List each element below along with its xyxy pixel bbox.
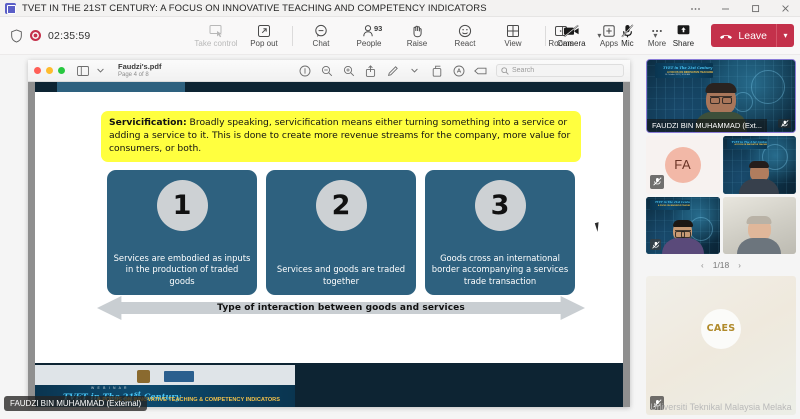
- rotate-icon[interactable]: [430, 64, 443, 77]
- person-silhouette: [739, 162, 779, 194]
- speaker-slide-banner: TVET in The 21st Century A FOCUS ON INNO…: [655, 63, 713, 78]
- people-count-badge: 93: [374, 24, 382, 33]
- markup-icon[interactable]: [386, 64, 399, 77]
- person-hair: [749, 161, 769, 168]
- share-label: Share: [673, 39, 694, 48]
- highlight-lead: Servicification:: [109, 117, 187, 128]
- raise-hand-button[interactable]: Raise: [393, 17, 441, 55]
- mic-label: Mic: [621, 39, 633, 48]
- window-minimize-icon[interactable]: [46, 67, 53, 74]
- shield-icon[interactable]: [10, 29, 23, 43]
- participant-tile-video-3[interactable]: [723, 197, 797, 255]
- window-close-icon[interactable]: [34, 67, 41, 74]
- mic-options-chevron-down-icon[interactable]: ▾: [648, 17, 662, 55]
- sidebar-toggle-icon[interactable]: [76, 64, 89, 77]
- camera-options-chevron-down-icon[interactable]: ▾: [592, 17, 606, 55]
- pdf-page: Servicification: Broadly speaking, servi…: [35, 82, 623, 407]
- share-icon[interactable]: [364, 64, 377, 77]
- person-torso: [662, 238, 704, 254]
- slide-footer-logos: [35, 365, 295, 387]
- participant-slide-banner: TVET in The 21st Century A FOCUS ON INNO…: [727, 139, 767, 149]
- recording-dot-icon: [30, 30, 41, 41]
- meeting-timer: 02:35:59: [48, 30, 90, 42]
- leave-options-chevron-down-icon[interactable]: ▾: [776, 24, 794, 47]
- camera-off-icon: [563, 23, 580, 38]
- hang-up-icon: [719, 31, 733, 41]
- person-torso: [739, 179, 779, 194]
- mic-button[interactable]: Mic: [606, 17, 648, 55]
- card-number-2: 2: [316, 180, 367, 231]
- person-hair: [673, 220, 693, 227]
- pdf-file-name: Faudzi's.pdf: [118, 63, 161, 71]
- person-hair: [747, 216, 772, 224]
- window-title: TVET IN THE 21ST CENTURY: A FOCUS ON INN…: [22, 3, 487, 14]
- camera-label: Camera: [557, 39, 585, 48]
- person-silhouette: [737, 217, 781, 254]
- window-close-button[interactable]: [770, 0, 800, 17]
- slide-footer-gap: [35, 355, 623, 363]
- person-glasses: [710, 96, 732, 101]
- take-control-icon: [209, 23, 224, 38]
- markup-chevron-down-icon[interactable]: [408, 64, 421, 77]
- window-title-bar: TVET IN THE 21ST CENTURY: A FOCUS ON INN…: [0, 0, 800, 17]
- react-label: React: [455, 39, 476, 48]
- leave-label: Leave: [738, 30, 767, 42]
- info-icon[interactable]: [298, 64, 311, 77]
- view-button[interactable]: View: [489, 17, 537, 55]
- participant-tile-avatar[interactable]: FA: [646, 136, 720, 194]
- participant-tile-video-1[interactable]: TVET in The 21st Century A FOCUS ON INNO…: [723, 136, 797, 194]
- pop-out-icon: [257, 23, 271, 38]
- speaker-mic-off-icon: [778, 119, 791, 128]
- chat-icon: [314, 23, 328, 38]
- interaction-arrow-bar: Type of interaction between goods and se…: [97, 295, 585, 321]
- speaker-banner-line1: TVET in The 21st Century: [663, 66, 712, 70]
- view-grid-icon: [506, 23, 520, 38]
- highlight-icon[interactable]: [474, 64, 487, 77]
- slide-card-2: 2 Services and goods are traded together: [266, 170, 416, 295]
- chat-button[interactable]: Chat: [297, 17, 345, 55]
- banner-line2: A FOCUS ON INNOVATIVE TEACHING: [735, 144, 767, 146]
- participant-tile-video-2[interactable]: TVET in The 21st Century A FOCUS ON INNO…: [646, 197, 720, 255]
- raise-label: Raise: [407, 39, 427, 48]
- participant-mic-off-icon: [650, 175, 664, 189]
- servicification-highlight-box: Servicification: Broadly speaking, servi…: [101, 111, 581, 162]
- pop-out-button[interactable]: Pop out: [240, 17, 288, 55]
- participant-rail: TVET in The 21st Century A FOCUS ON INNO…: [646, 56, 796, 419]
- person-glasses: [675, 230, 691, 235]
- institution-logo-icon: [164, 371, 194, 382]
- pop-out-label: Pop out: [250, 39, 278, 48]
- take-control-label: Take control: [194, 39, 237, 48]
- search-icon: [501, 67, 509, 75]
- organization-tile[interactable]: CAES Universiti Teknikal Malaysia Melaka: [646, 276, 796, 415]
- meeting-command-bar: 02:35:59 Take control Pop out Chat: [0, 17, 800, 55]
- organization-avatar: CAES: [701, 309, 741, 349]
- teams-logo-icon: [5, 3, 16, 14]
- slide-cards: 1 Services are embodied as inputs in the…: [107, 170, 575, 295]
- pdf-search-placeholder: Search: [512, 67, 534, 74]
- participant-slide-banner: TVET in The 21st Century A FOCUS ON INNO…: [650, 200, 690, 210]
- pdf-viewer-toolbar: Faudzi's.pdf Page 4 of 8: [28, 60, 630, 82]
- share-screen-icon: [676, 23, 691, 38]
- person-torso: [737, 238, 781, 254]
- pdf-viewer-window: Faudzi's.pdf Page 4 of 8: [28, 60, 630, 407]
- pdf-search-field[interactable]: Search: [496, 64, 624, 77]
- card-text-2: Services and goods are traded together: [272, 264, 410, 287]
- people-label: People: [357, 39, 382, 48]
- take-control-button[interactable]: Take control: [192, 17, 240, 55]
- people-button[interactable]: 93 People: [345, 17, 393, 55]
- pager-next-chevron-icon[interactable]: ›: [738, 261, 741, 270]
- view-label: View: [504, 39, 521, 48]
- organization-name-label: Universiti Teknikal Malaysia Melaka: [646, 402, 796, 412]
- card-text-3: Goods cross an international border acco…: [431, 253, 569, 287]
- react-button[interactable]: React: [441, 17, 489, 55]
- mic-off-icon: [621, 23, 634, 38]
- pdf-tool-buttons: Search: [298, 64, 624, 77]
- slide-card-3: 3 Goods cross an international border ac…: [425, 170, 575, 295]
- card-number-1: 1: [157, 180, 208, 231]
- participant-mic-off-icon: [650, 239, 661, 250]
- banner-line2: A FOCUS ON INNOVATIVE TEACHING: [658, 205, 690, 207]
- shared-content-area: Faudzi's.pdf Page 4 of 8: [0, 56, 640, 419]
- presenter-name-pill: FAUDZI BIN MUHAMMAD (External): [4, 396, 147, 411]
- speaker-banner-line3: 14 October 2021 | 10.00 AM: [665, 74, 690, 76]
- command-bar-av-controls: Camera ▾ Mic ▾ Share Leave ▾: [541, 17, 794, 55]
- organization-logo-text: CAES: [707, 323, 736, 334]
- zoom-out-icon[interactable]: [320, 64, 333, 77]
- slide-top-accent: [57, 82, 185, 92]
- sidebar-chevron-down-icon[interactable]: [94, 64, 107, 77]
- leave-button[interactable]: Leave: [711, 24, 776, 47]
- traffic-light-controls: [34, 67, 65, 74]
- command-divider: [292, 26, 293, 46]
- window-controls: [680, 0, 800, 17]
- window-more-button[interactable]: [680, 0, 710, 17]
- camera-button[interactable]: Camera: [550, 17, 592, 55]
- window-maximize-button[interactable]: [740, 0, 770, 17]
- person-silhouette: [662, 221, 704, 254]
- window-zoom-icon[interactable]: [58, 67, 65, 74]
- meeting-stage: Faudzi's.pdf Page 4 of 8: [0, 56, 800, 419]
- zoom-in-icon[interactable]: [342, 64, 355, 77]
- active-speaker-tile[interactable]: TVET in The 21st Century A FOCUS ON INNO…: [646, 59, 796, 133]
- react-emoji-icon: [458, 23, 472, 38]
- slide-card-1: 1 Services are embodied as inputs in the…: [107, 170, 257, 295]
- annotate-icon[interactable]: [452, 64, 465, 77]
- avatar: FA: [665, 147, 701, 183]
- chat-label: Chat: [313, 39, 330, 48]
- window-minimize-button[interactable]: [710, 0, 740, 17]
- pager-label: 1/18: [713, 260, 730, 270]
- pager-prev-chevron-icon[interactable]: ‹: [701, 261, 704, 270]
- pdf-page-area: Servicification: Broadly speaking, servi…: [28, 82, 630, 407]
- participant-grid: FA TVET in The 21st Century A FOCUS ON I…: [646, 136, 796, 254]
- jata-negara-logo-icon: [137, 370, 150, 383]
- raise-hand-icon: [410, 23, 424, 38]
- card-number-3: 3: [475, 180, 526, 231]
- pdf-document-info: Faudzi's.pdf Page 4 of 8: [118, 63, 161, 78]
- decor-ring: [751, 70, 785, 104]
- av-divider: [545, 26, 546, 46]
- person-hair: [706, 83, 737, 93]
- pdf-page-status: Page 4 of 8: [118, 72, 161, 78]
- share-button[interactable]: Share: [662, 17, 704, 55]
- rail-pagination: ‹ 1/18 ›: [646, 257, 796, 273]
- arrow-label: Type of interaction between goods and se…: [97, 295, 585, 321]
- speaker-name-label: FAUDZI BIN MUHAMMAD (Ext...: [647, 119, 767, 132]
- card-text-1: Services are embodied as inputs in the p…: [113, 253, 251, 287]
- recording-status-group: 02:35:59: [0, 29, 90, 43]
